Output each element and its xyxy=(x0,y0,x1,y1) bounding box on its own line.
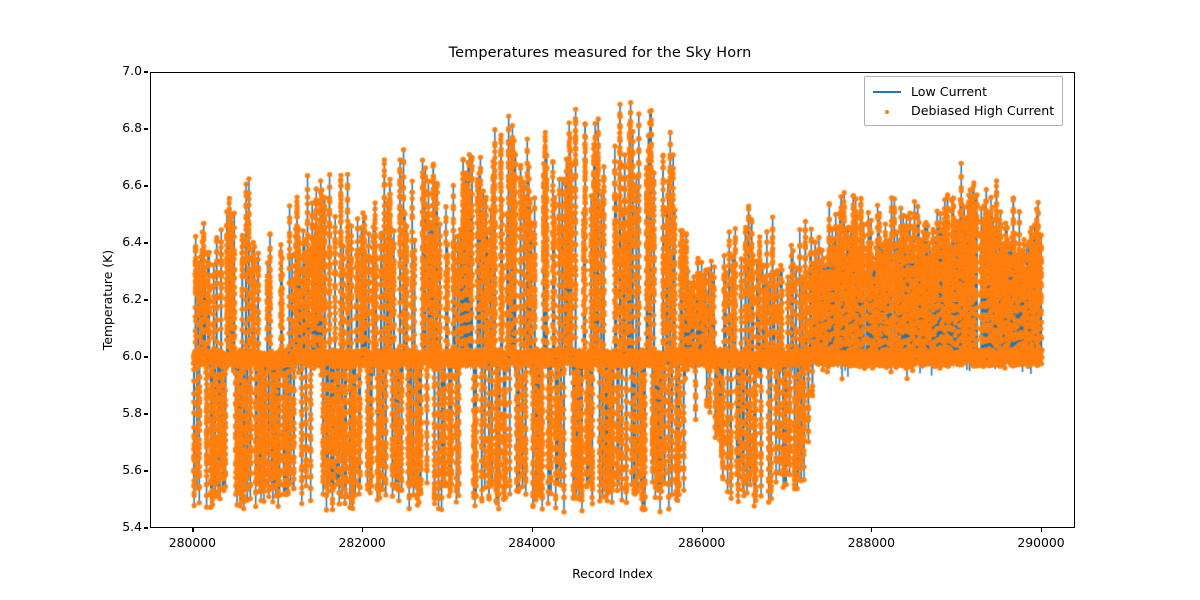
x-tick-mark xyxy=(362,528,363,532)
y-tick-mark xyxy=(144,242,148,243)
x-axis-label: Record Index xyxy=(150,566,1075,581)
legend[interactable]: Low Current Debiased High Current xyxy=(864,76,1063,126)
y-tick-mark xyxy=(144,413,148,414)
y-tick-mark xyxy=(144,185,148,186)
x-tick-label: 286000 xyxy=(678,535,725,550)
y-tick-label: 5.4 xyxy=(122,519,142,534)
x-tick-label: 288000 xyxy=(848,535,895,550)
x-tick-label: 282000 xyxy=(338,535,385,550)
series-plot-canvas xyxy=(151,73,1075,528)
legend-dot-glyph xyxy=(885,110,889,114)
y-tick-mark xyxy=(144,527,148,528)
y-tick-mark xyxy=(144,356,148,357)
y-tick-mark xyxy=(144,470,148,471)
legend-item-low-current[interactable]: Low Current xyxy=(872,82,1054,101)
x-tick-mark xyxy=(871,528,872,532)
line-swatch-icon xyxy=(872,85,902,99)
y-tick-mark xyxy=(144,128,148,129)
legend-item-debiased-high-current[interactable]: Debiased High Current xyxy=(872,101,1054,120)
y-tick-label: 6.6 xyxy=(122,177,142,192)
y-axis-label: Temperature (K) xyxy=(100,72,115,528)
y-tick-label: 7.0 xyxy=(122,63,142,78)
y-tick-label: 5.6 xyxy=(122,462,142,477)
x-tick-label: 284000 xyxy=(508,535,555,550)
x-tick-label: 280000 xyxy=(169,535,216,550)
y-tick-mark xyxy=(144,71,148,72)
legend-label-debiased-high-current: Debiased High Current xyxy=(911,103,1054,118)
x-tick-mark xyxy=(1041,528,1042,532)
y-tick-label: 5.8 xyxy=(122,405,142,420)
x-tick-mark xyxy=(702,528,703,532)
dot-swatch-icon xyxy=(872,104,902,118)
y-tick-label: 6.0 xyxy=(122,348,142,363)
plot-area xyxy=(150,72,1075,528)
x-tick-mark xyxy=(192,528,193,532)
y-tick-label: 6.4 xyxy=(122,234,142,249)
y-tick-mark xyxy=(144,299,148,300)
x-tick-label: 290000 xyxy=(1017,535,1064,550)
figure-canvas: Temperatures measured for the Sky Horn T… xyxy=(0,0,1200,600)
chart-title: Temperatures measured for the Sky Horn xyxy=(0,45,1200,61)
x-tick-mark xyxy=(532,528,533,532)
y-tick-label: 6.8 xyxy=(122,120,142,135)
legend-label-low-current: Low Current xyxy=(911,84,987,99)
legend-line-glyph xyxy=(873,91,901,93)
y-tick-label: 6.2 xyxy=(122,291,142,306)
